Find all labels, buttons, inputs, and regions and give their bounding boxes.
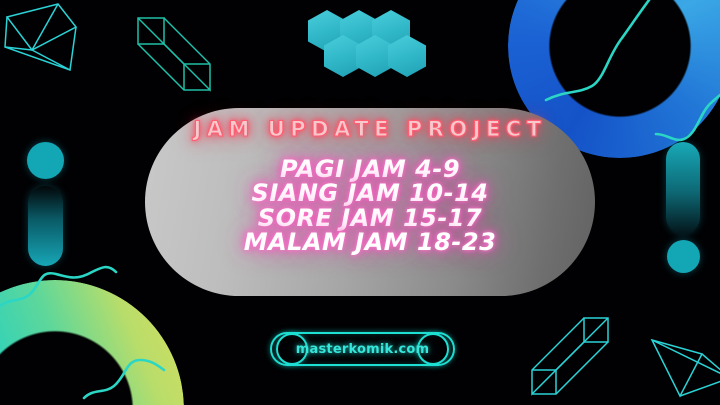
- website-url[interactable]: masterkomik.com: [270, 332, 455, 366]
- schedule-item-malam: MALAM JAM 18-23: [244, 230, 497, 254]
- letter-i-stem-icon: [28, 186, 63, 266]
- exclamation-glyph-icon: [666, 142, 700, 234]
- schedule-list: PAGI JAM 4-9 SIANG JAM 10-14 SORE JAM 15…: [244, 157, 497, 255]
- letter-i-glyph-icon: [27, 142, 64, 179]
- wireframe-prism-icon: [496, 300, 616, 400]
- schedule-item-sore: SORE JAM 15-17: [258, 206, 482, 230]
- page-title: JAM UPDATE PROJECT: [193, 117, 546, 141]
- exclamation-dot-icon: [667, 240, 700, 273]
- wireframe-prism-icon: [134, 14, 244, 100]
- wireframe-pyramid-icon: [644, 324, 720, 405]
- content-panel-body: JAM UPDATE PROJECT PAGI JAM 4-9 SIANG JA…: [145, 108, 595, 296]
- hexagon-cluster-icon: [308, 8, 418, 78]
- website-badge[interactable]: masterkomik.com: [270, 332, 455, 366]
- wireframe-gem-icon: [2, 2, 107, 80]
- poster-canvas: JAM UPDATE PROJECT PAGI JAM 4-9 SIANG JA…: [0, 0, 720, 405]
- schedule-item-pagi: PAGI JAM 4-9: [280, 157, 460, 181]
- schedule-item-siang: SIANG JAM 10-14: [252, 181, 489, 205]
